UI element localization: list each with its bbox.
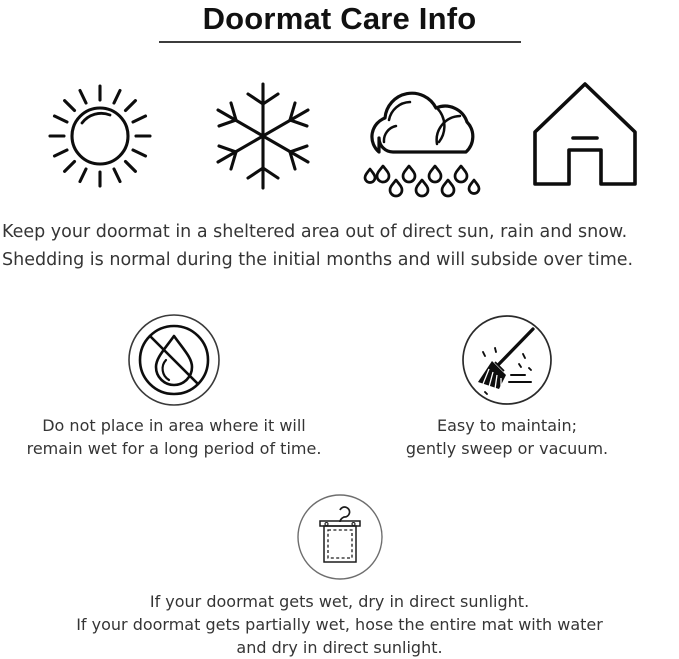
hang-dry-icon xyxy=(295,492,385,582)
dry-instructions-block: If your doormat gets wet, dry in direct … xyxy=(0,492,679,659)
title-underline-divider xyxy=(159,41,521,43)
page-title: Doormat Care Info xyxy=(0,0,679,36)
sun-icon xyxy=(40,70,160,198)
rain-cloud-icon xyxy=(353,70,493,198)
weather-icon-row xyxy=(0,70,679,198)
snowflake-icon-cell xyxy=(188,70,338,198)
lead-paragraph: Keep your doormat in a sheltered area ou… xyxy=(2,218,679,274)
house-icon-cell xyxy=(510,70,660,198)
no-water-badge xyxy=(4,312,344,408)
broom-sweep-badge xyxy=(337,312,677,408)
sun-icon-cell xyxy=(25,70,175,198)
care-item-caption: Easy to maintain; gently sweep or vacuum… xyxy=(337,414,677,460)
house-icon xyxy=(515,70,655,198)
no-water-icon xyxy=(126,312,222,408)
doormat-care-info-graphic: Doormat Care Info xyxy=(0,0,679,655)
page-header: Doormat Care Info xyxy=(0,0,679,43)
care-items-row: Do not place in area where it will remai… xyxy=(0,312,679,472)
broom-sweep-icon xyxy=(459,312,555,408)
snowflake-icon xyxy=(203,70,323,198)
care-item-no-standing-water: Do not place in area where it will remai… xyxy=(4,312,344,460)
care-item-easy-maintain: Easy to maintain; gently sweep or vacuum… xyxy=(337,312,677,460)
dry-instructions-caption: If your doormat gets wet, dry in direct … xyxy=(0,590,679,659)
care-item-caption: Do not place in area where it will remai… xyxy=(4,414,344,460)
rain-cloud-icon-cell xyxy=(348,70,498,198)
